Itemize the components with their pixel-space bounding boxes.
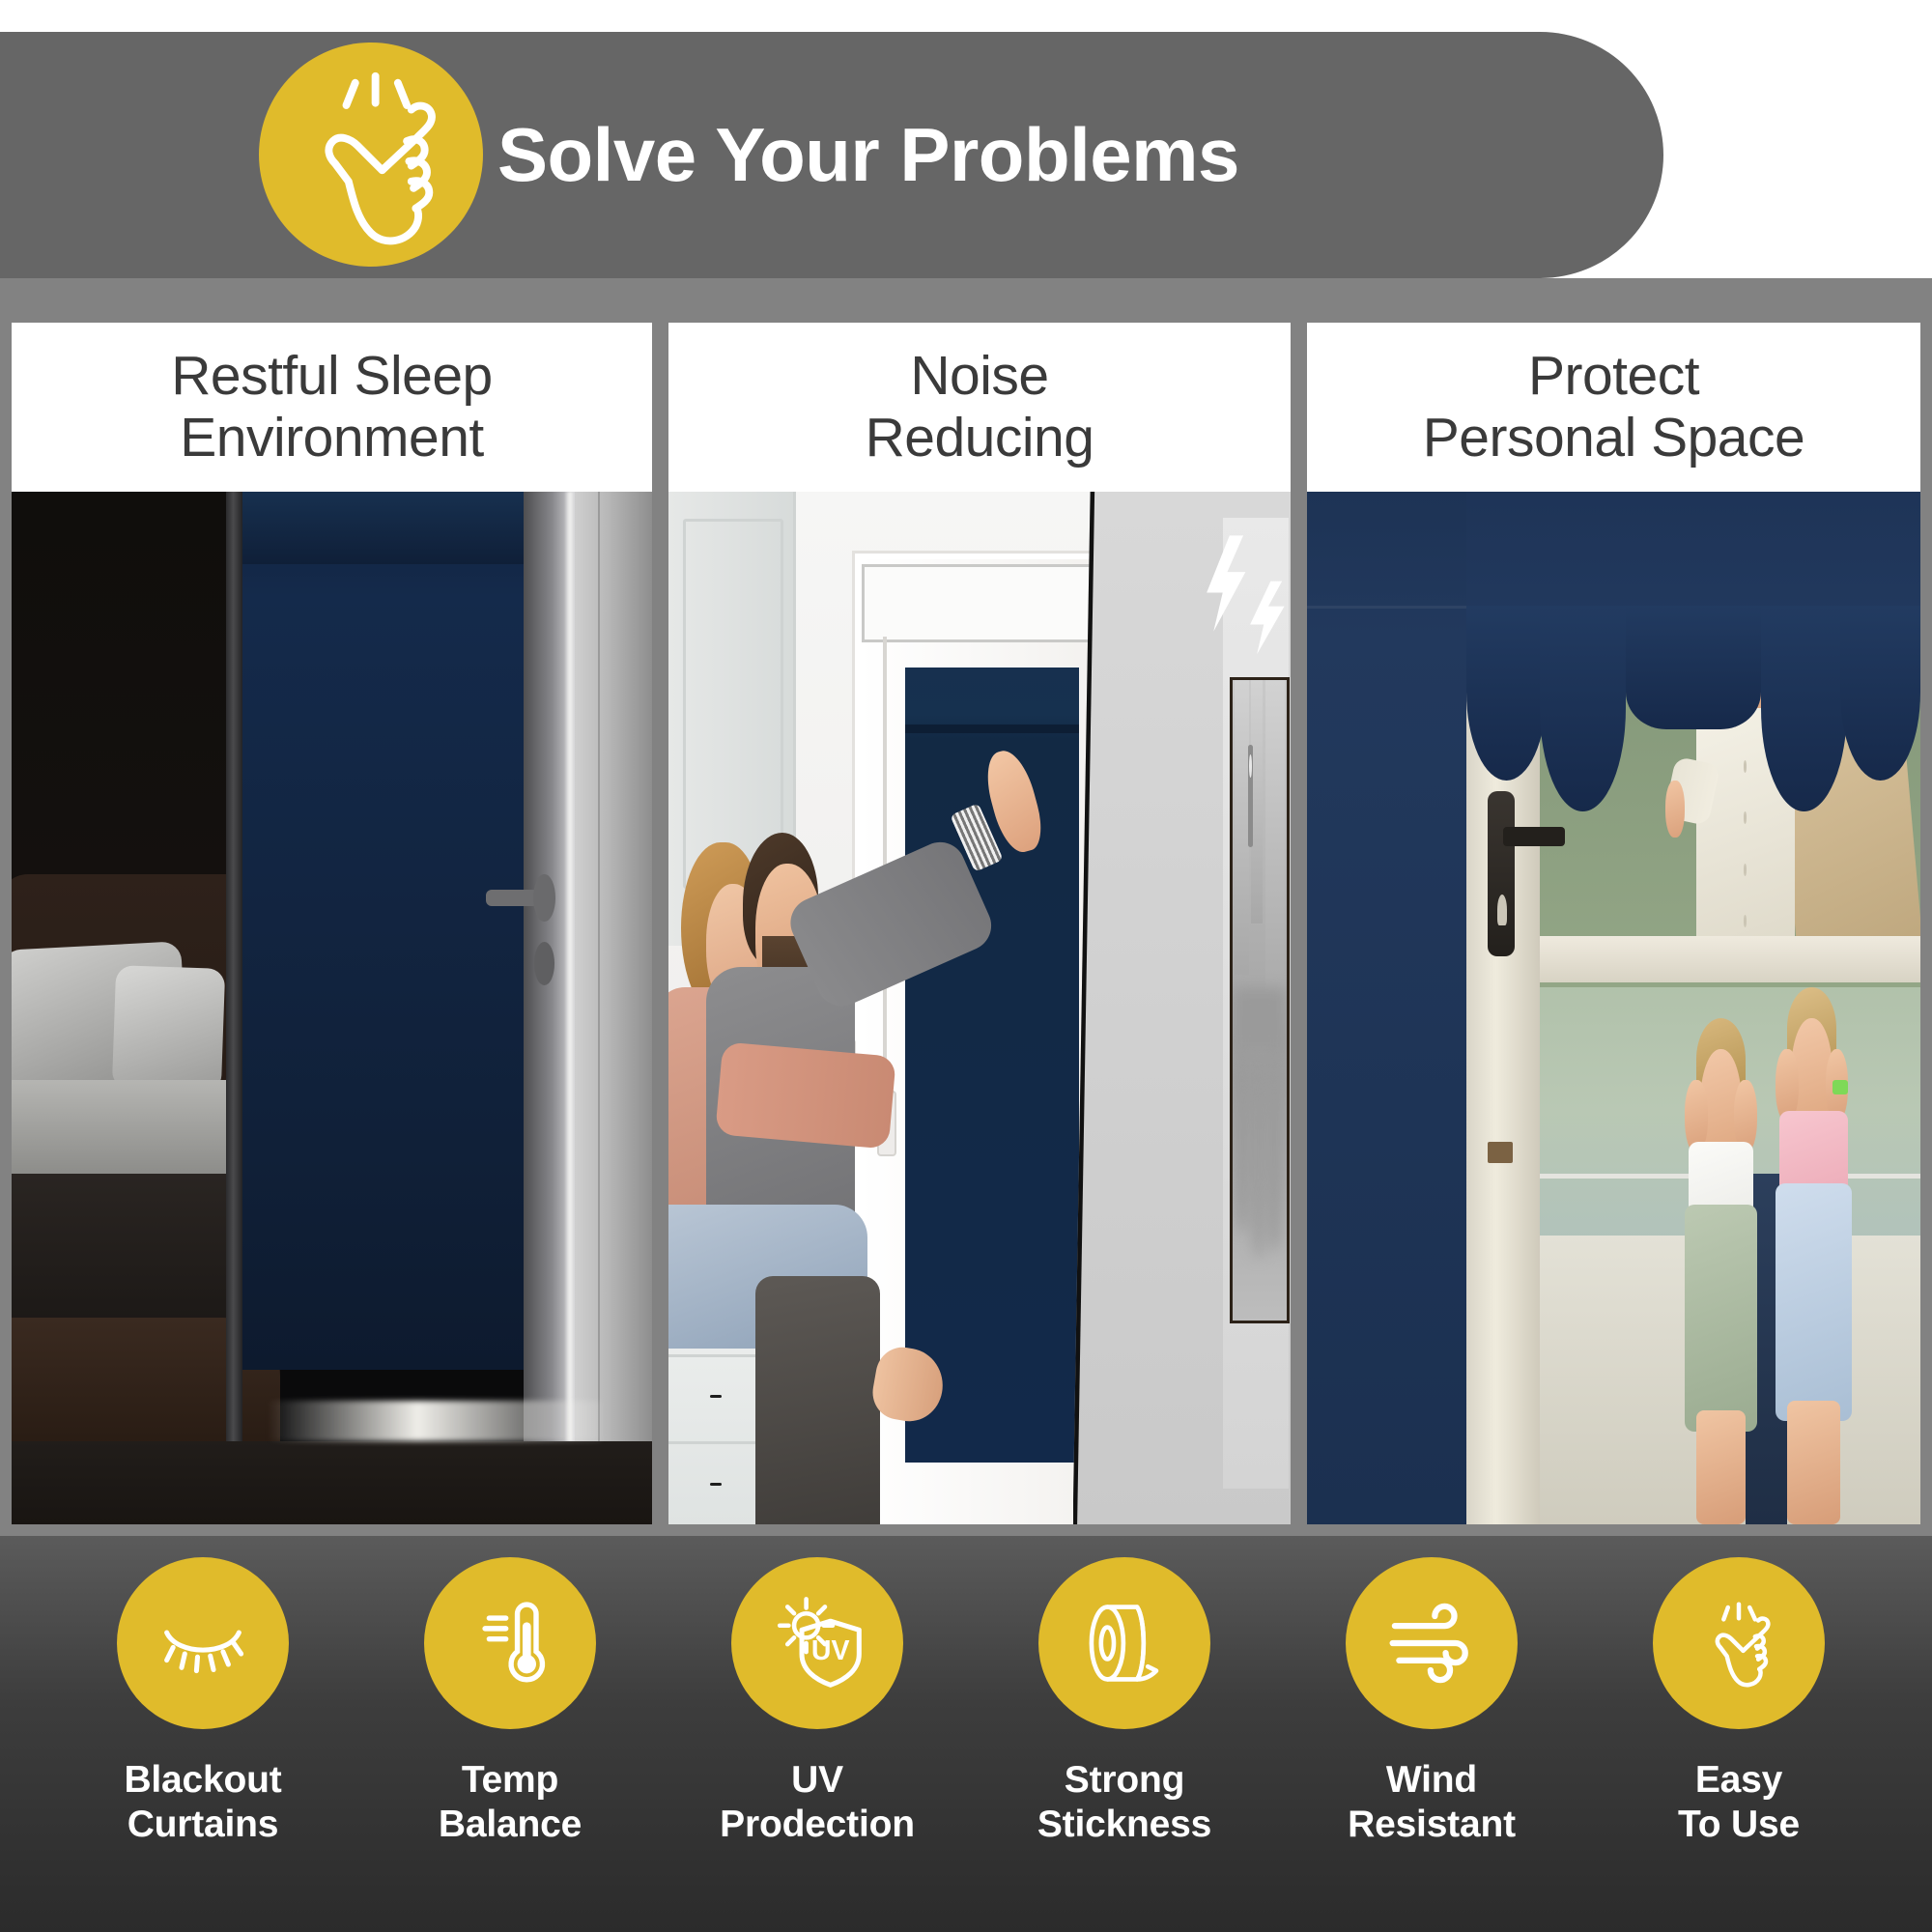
lightning-bolts-icon [1185, 533, 1291, 659]
panel-header-protect-personal-space: ProtectPersonal Space [1307, 323, 1920, 492]
panel-title-line1: Noise [910, 345, 1048, 407]
header-banner: Solve Your Problems [0, 32, 1663, 278]
panel-title-restful-sleep: Restful SleepEnvironment [171, 346, 493, 469]
thermometer-icon [424, 1557, 596, 1729]
panel-title-line1: Restful Sleep [171, 345, 493, 407]
svg-text:UV: UV [811, 1635, 850, 1666]
feature-label-line2: Resistant [1348, 1803, 1516, 1847]
feature-label-line2: Balance [439, 1803, 582, 1847]
feature-label-line1: Strong [1065, 1759, 1184, 1801]
panel-photo-noise-split-view [668, 492, 1291, 1524]
feature-label-line1: Blackout [124, 1759, 281, 1801]
panel-title-line2: Personal Space [1423, 407, 1804, 469]
feature-item-easy-to-use[interactable]: Easy To Use [1623, 1557, 1855, 1847]
tape-roll-icon [1038, 1557, 1210, 1729]
panel-noise-reducing[interactable]: NoiseReducing [668, 323, 1291, 1524]
feature-label-line2: Stickness [1037, 1803, 1211, 1847]
feature-label-wind-resistant: Wind Resistant [1348, 1758, 1516, 1847]
panel-header-noise-reducing: NoiseReducing [668, 323, 1291, 492]
feature-label-line1: Wind [1386, 1759, 1477, 1801]
panel-photo-door-privacy [1307, 492, 1920, 1524]
feature-list: Blackout Curtains [87, 1557, 1855, 1915]
feature-label-line1: Easy [1695, 1759, 1782, 1801]
panel-header-restful-sleep: Restful SleepEnvironment [12, 323, 652, 492]
feature-label-line2: Curtains [124, 1803, 281, 1847]
feature-item-blackout-curtains[interactable]: Blackout Curtains [87, 1557, 319, 1847]
feature-item-strong-stickness[interactable]: Strong Stickness [1009, 1557, 1240, 1847]
panel-title-line2: Reducing [866, 407, 1094, 469]
closed-eye-icon [117, 1557, 289, 1729]
finger-snap-icon [259, 43, 483, 267]
feature-bar: Blackout Curtains [0, 1536, 1932, 1932]
panel-photo-dark-bedroom [12, 492, 652, 1524]
feature-label-line1: Temp [462, 1759, 558, 1801]
feature-label-line1: UV [791, 1759, 843, 1801]
panel-title-noise-reducing: NoiseReducing [866, 346, 1094, 469]
panel-title-line2: Environment [180, 407, 484, 469]
feature-label-blackout-curtains: Blackout Curtains [124, 1758, 281, 1847]
feature-label-line2: To Use [1678, 1803, 1800, 1847]
feature-item-uv-prodection[interactable]: UV UV Prodection [701, 1557, 933, 1847]
feature-label-uv-prodection: UV Prodection [720, 1758, 915, 1847]
panel-title-protect-personal-space: ProtectPersonal Space [1423, 346, 1804, 469]
panel-protect-personal-space[interactable]: ProtectPersonal Space [1307, 323, 1920, 1524]
wind-icon [1346, 1557, 1518, 1729]
infographic-canvas: Solve Your Problems Restful SleepEnviron… [0, 0, 1932, 1932]
panel-title-line1: Protect [1528, 345, 1699, 407]
page-title: Solve Your Problems [497, 32, 1637, 278]
feature-label-temp-balance: Temp Balance [439, 1758, 582, 1847]
finger-snap-icon [1653, 1557, 1825, 1729]
uv-shield-sun-icon: UV [731, 1557, 903, 1729]
feature-item-temp-balance[interactable]: Temp Balance [394, 1557, 626, 1847]
panel-restful-sleep[interactable]: Restful SleepEnvironment [12, 323, 652, 1524]
feature-label-strong-stickness: Strong Stickness [1037, 1758, 1211, 1847]
feature-item-wind-resistant[interactable]: Wind Resistant [1316, 1557, 1548, 1847]
benefit-panels: Restful SleepEnvironment [0, 278, 1932, 1536]
feature-label-easy-to-use: Easy To Use [1678, 1758, 1800, 1847]
feature-label-line2: Prodection [720, 1803, 915, 1847]
